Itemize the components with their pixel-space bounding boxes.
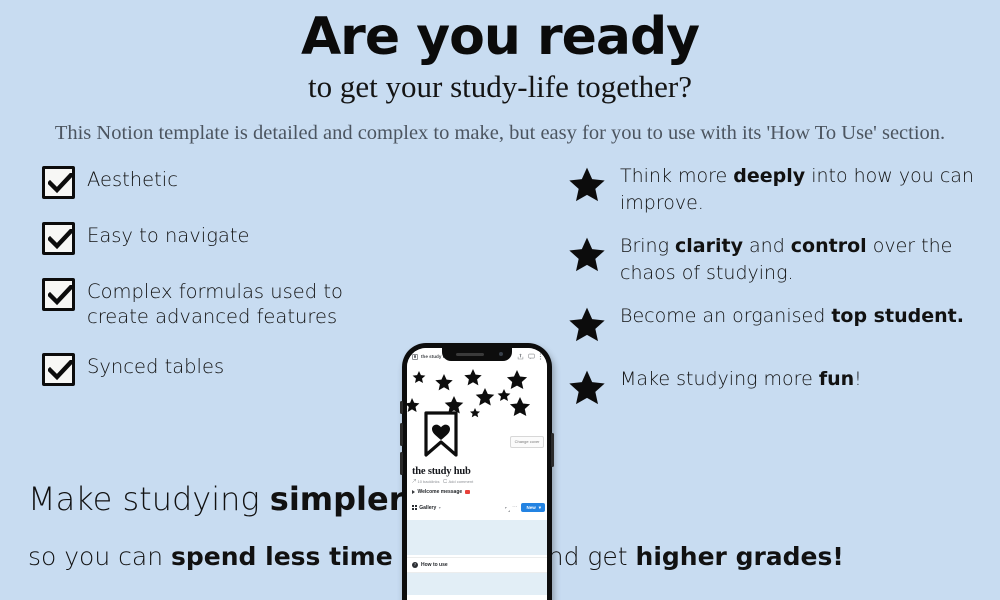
how-to-use-card[interactable]: ? How to use [407,557,547,573]
question-mark-icon: ? [412,562,418,568]
benefit-item: Bring clarity and control over the chaos… [566,233,986,287]
notion-page-meta: 10 backlinks Add comment [407,477,547,485]
phone-mute-button[interactable] [400,401,403,414]
database-view-name[interactable]: Gallery [419,505,436,511]
cover-star-artwork [407,365,547,465]
benefit-item-text: Think more deeply into how you can impro… [620,163,986,217]
benefit-item: Become an organised top student. [566,303,986,350]
checkmark-icon [42,222,75,255]
backlink-icon [412,479,416,484]
checklist-item[interactable]: Easy to navigate [42,221,402,255]
benefit-item-text: Become an organised top student. [620,303,964,330]
star-icon [566,366,610,413]
chevron-right-icon[interactable] [412,490,415,494]
comment-bubble-icon [443,479,448,485]
chevron-down-icon[interactable]: ▾ [439,505,441,510]
gallery-view-icon [412,505,417,510]
notion-page-title: the study hub [407,465,547,477]
checkmark-icon [42,353,75,386]
phone-volume-up-button[interactable] [400,423,403,446]
checklist-item-label: Complex formulas used to create advanced… [87,277,402,330]
backlinks-label: 10 backlinks [418,479,440,484]
bookmark-icon [412,348,418,366]
checklist-item-label: Easy to navigate [87,221,250,249]
phone-volume-down-button[interactable] [400,452,403,475]
gallery-placeholder-band [407,573,547,595]
checklist-item-label: Aesthetic [87,165,178,193]
checklist-item-label: Synced tables [87,352,224,380]
star-icon [566,303,610,350]
comment-icon[interactable] [528,348,535,366]
notion-page-body: the study hub 10 backlinks Add comment [407,465,547,600]
checkmark-icon [42,278,75,311]
welcome-message-label: Welcome message [418,489,463,495]
expand-icon[interactable] [505,499,510,517]
phone-power-button[interactable] [551,433,554,467]
benefit-item-text: Bring clarity and control over the chaos… [620,233,986,287]
phone-mockup: the study hub [402,343,552,600]
page-title: Are you ready [0,8,1000,66]
add-comment-item[interactable]: Add comment [443,479,474,485]
new-button-label: New [526,505,535,510]
intro-paragraph: This Notion template is detailed and com… [14,117,986,150]
earpiece-speaker [456,353,484,356]
front-camera-icon [499,352,503,356]
page-subtitle: to get your study-life together? [0,68,1000,105]
database-header-row: Gallery ▾ ⋯ New ▾ [407,495,547,517]
bookmark-emoji-icon [465,490,470,494]
star-icon [566,163,610,210]
checklist-item[interactable]: Complex formulas used to create advanced… [42,277,402,330]
backlinks-item[interactable]: 10 backlinks [412,479,440,484]
star-icon [566,233,610,280]
benefit-item: Think more deeply into how you can impro… [566,163,986,217]
add-comment-label: Add comment [449,479,474,484]
benefit-item-text: Make studying more fun! [620,366,862,393]
checklist-item[interactable]: Synced tables [42,352,402,386]
more-options-icon[interactable]: ⋯ [512,505,518,511]
phone-notch [442,348,512,361]
feature-checklist: Aesthetic Easy to navigate Complex formu… [42,165,402,408]
welcome-toggle-block[interactable]: Welcome message [407,485,547,495]
checkmark-icon [42,166,75,199]
phone-screen: the study hub [407,348,547,600]
chevron-down-icon[interactable]: ▾ [539,505,541,511]
benefits-list: Think more deeply into how you can impro… [566,163,986,429]
benefit-item: Make studying more fun! [566,366,986,413]
how-to-use-label: How to use [421,562,448,568]
share-icon[interactable] [517,348,524,366]
gallery-placeholder-band [407,520,547,555]
body-area: Aesthetic Easy to navigate Complex formu… [0,151,1000,571]
notion-cover-image: Change cover [407,365,547,465]
change-cover-button[interactable]: Change cover [510,436,544,447]
new-button[interactable]: New ▾ [521,503,545,512]
checklist-item[interactable]: Aesthetic [42,165,402,199]
header: Are you ready to get your study-life tog… [0,0,1000,151]
more-options-icon[interactable] [539,348,542,366]
